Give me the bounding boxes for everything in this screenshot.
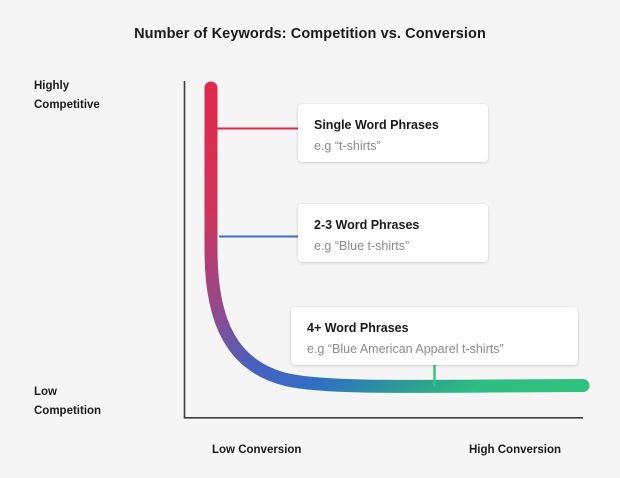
callout-title: 2-3 Word Phrases bbox=[314, 217, 472, 233]
callout-subtitle: e.g “Blue t-shirts” bbox=[314, 238, 472, 254]
callout-title: 4+ Word Phrases bbox=[307, 320, 562, 336]
callout-subtitle: e.g “Blue American Apparel t-shirts” bbox=[307, 341, 562, 357]
callout-card-four-plus-word: 4+ Word Phrases e.g “Blue American Appar… bbox=[291, 307, 578, 365]
callout-title: Single Word Phrases bbox=[314, 117, 472, 133]
callout-card-two-three-word: 2-3 Word Phrases e.g “Blue t-shirts” bbox=[298, 204, 488, 262]
callout-subtitle: e.g “t-shirts” bbox=[314, 138, 472, 154]
chart-container: Number of Keywords: Competition vs. Conv… bbox=[0, 0, 620, 478]
callout-card-single-word: Single Word Phrases e.g “t-shirts” bbox=[298, 104, 488, 162]
